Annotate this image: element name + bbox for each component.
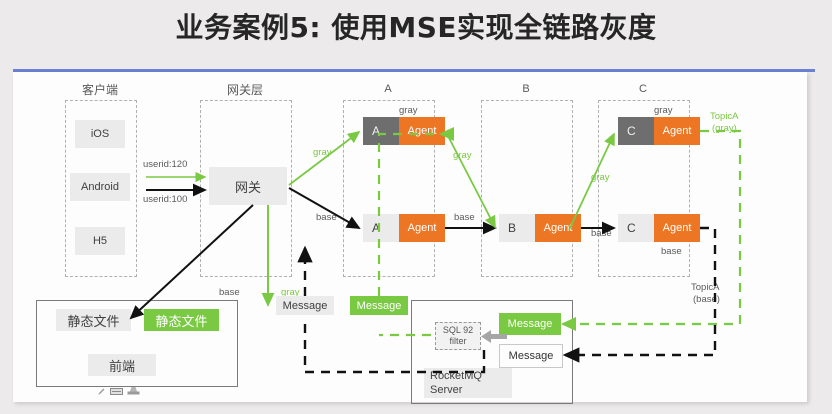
stamp-icon[interactable] xyxy=(127,382,140,392)
tool-icon-group xyxy=(97,382,140,392)
connector-layer xyxy=(13,72,807,402)
rectangle-icon[interactable] xyxy=(110,383,123,392)
pen-icon[interactable] xyxy=(97,383,106,392)
slide-root: 业务案例5: 使用MSE实现全链路灰度 客户端 网关层 A B C iOS An… xyxy=(0,0,832,414)
page-title: 业务案例5: 使用MSE实现全链路灰度 xyxy=(0,6,832,46)
pull-arrow xyxy=(481,330,507,343)
diagram-canvas: 客户端 网关层 A B C iOS Android H5 网关 userid:1… xyxy=(13,72,807,402)
architecture-diagram: 客户端 网关层 A B C iOS Android H5 网关 userid:1… xyxy=(13,72,807,402)
